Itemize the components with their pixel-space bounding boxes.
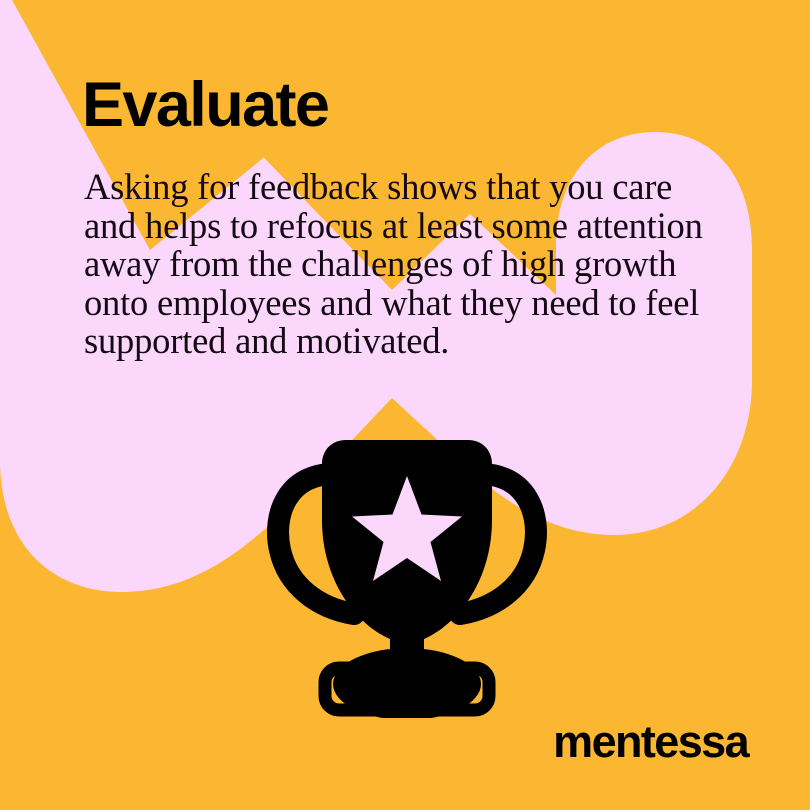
trophy-icon (262, 428, 552, 718)
page-title: Evaluate (82, 72, 328, 138)
content-layer: Evaluate Asking for feedback shows that … (0, 0, 810, 810)
brand-logo: mentessa (553, 719, 748, 764)
poster-canvas: Evaluate Asking for feedback shows that … (0, 0, 810, 810)
body-paragraph: Asking for feedback shows that you care … (84, 168, 724, 361)
